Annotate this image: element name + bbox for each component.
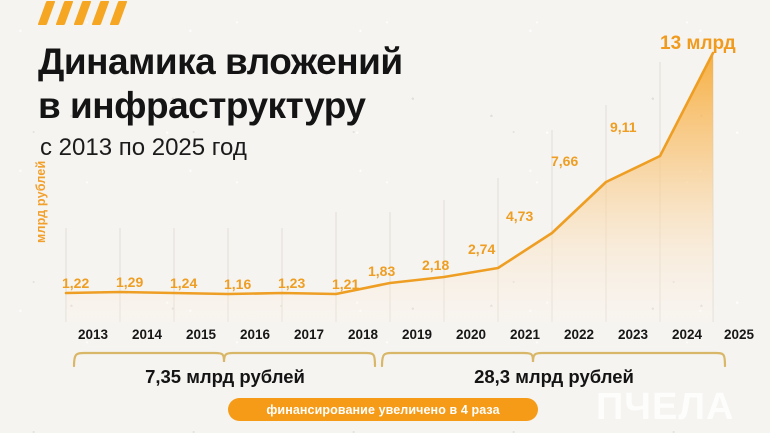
data-label: 1,21 bbox=[332, 276, 359, 292]
x-axis-tick: 2019 bbox=[389, 327, 445, 342]
logo-stripe bbox=[56, 1, 74, 25]
page-title-line-1: Динамика вложений bbox=[38, 40, 403, 83]
bracket-right-label: 28,3 млрд рублей bbox=[382, 366, 726, 388]
data-label: 1,23 bbox=[278, 275, 305, 291]
x-axis-tick: 2015 bbox=[173, 327, 229, 342]
page-subtitle: с 2013 по 2025 год bbox=[40, 134, 247, 162]
page-title-line-2: в инфраструктуру bbox=[38, 84, 365, 127]
x-axis-tick: 2021 bbox=[497, 327, 553, 342]
x-axis-tick: 2013 bbox=[65, 327, 121, 342]
logo-stripe bbox=[110, 1, 128, 25]
status-badge-label: финансирование увеличено в 4 раза bbox=[266, 403, 499, 417]
bracket-right bbox=[382, 353, 725, 366]
watermark: ПЧЕЛА bbox=[596, 386, 734, 429]
diagonal-stripes-logo bbox=[42, 1, 128, 25]
data-label: 4,73 bbox=[506, 208, 533, 224]
x-axis-tick: 2025 bbox=[711, 327, 767, 342]
x-axis-tick: 2020 bbox=[443, 327, 499, 342]
x-axis-tick: 2022 bbox=[551, 327, 607, 342]
x-axis-tick: 2018 bbox=[335, 327, 391, 342]
data-label: 7,66 bbox=[551, 153, 578, 169]
data-label: 1,29 bbox=[116, 274, 143, 290]
bracket-left-label: 7,35 млрд рублей bbox=[74, 366, 376, 388]
data-label-total: 13 млрд bbox=[660, 33, 736, 55]
data-label: 2,18 bbox=[422, 257, 449, 273]
data-label: 2,74 bbox=[468, 241, 495, 257]
x-axis-tick: 2024 bbox=[659, 327, 715, 342]
data-label: 1,83 bbox=[368, 263, 395, 279]
x-axis-tick: 2016 bbox=[227, 327, 283, 342]
x-axis-tick: 2023 bbox=[605, 327, 661, 342]
status-badge: финансирование увеличено в 4 раза bbox=[228, 398, 538, 421]
bracket-left bbox=[74, 353, 375, 366]
infographic-canvas: Динамика вложений в инфраструктуру с 201… bbox=[0, 0, 770, 433]
data-label: 1,24 bbox=[170, 275, 197, 291]
x-axis-tick: 2017 bbox=[281, 327, 337, 342]
logo-stripe bbox=[38, 1, 56, 25]
data-label: 1,16 bbox=[224, 276, 251, 292]
data-label: 1,22 bbox=[62, 275, 89, 291]
logo-stripe bbox=[74, 1, 92, 25]
x-axis-tick: 2014 bbox=[119, 327, 175, 342]
logo-stripe bbox=[92, 1, 110, 25]
y-axis-label: млрд рублей bbox=[34, 143, 48, 243]
data-label: 9,11 bbox=[610, 119, 636, 135]
